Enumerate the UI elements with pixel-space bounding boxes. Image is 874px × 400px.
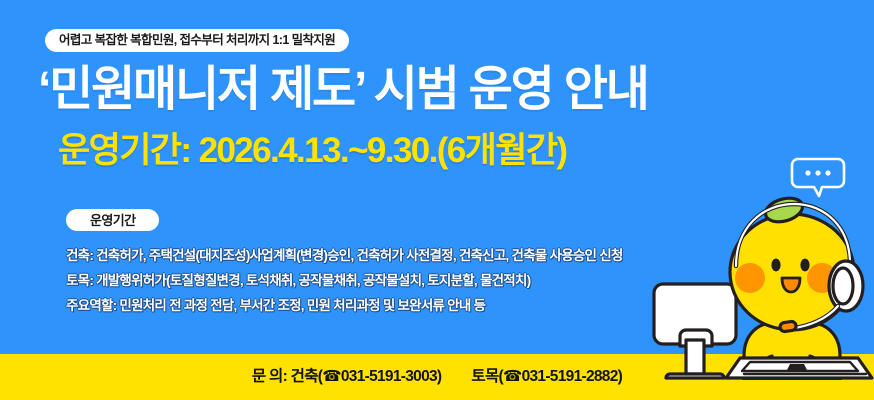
footer-contact-bar: 문 의: 건축(☎031-5191-3003) 토목(☎031-5191-288… — [0, 354, 874, 400]
detail-line-civil-engineering: 토목: 개발행위허가(토질형질변경, 토석채취, 공작물채취, 공작물설치, 토… — [66, 268, 686, 293]
contact-civil-engineering: 토목(☎031-5191-2882) — [471, 369, 622, 385]
eyebrow-text: 어렵고 복잡한 복합민원, 접수부터 처리까지 1:1 밀착지원 — [59, 34, 335, 47]
section-tag-label: 운영기간 — [90, 214, 135, 227]
operating-period-subtitle: 운영기간: 2026.4.13.~9.30.(6개월간) — [58, 131, 566, 171]
promo-banner: 어렵고 복잡한 복합민원, 접수부터 처리까지 1:1 밀착지원 ‘민원매니저 … — [0, 0, 874, 400]
detail-line-main-role: 주요역할: 민원처리 전 과정 전담, 부서간 조정, 민원 처리과정 및 보완… — [66, 293, 686, 318]
headline-title: ‘민원매니저 제도’ 시범 운영 안내 — [38, 62, 648, 117]
contact-building: 문 의: 건축(☎031-5191-3003) — [252, 369, 442, 385]
detail-list: 건축: 건축허가, 주택건설(대지조성)사업계획(변경)승인, 건축허가 사전결… — [66, 243, 686, 318]
microphone-icon — [780, 321, 797, 332]
eyebrow-pill: 어렵고 복잡한 복합민원, 접수부터 처리까지 1:1 밀착지원 — [45, 29, 349, 52]
speech-bubble-icon — [790, 156, 846, 200]
detail-line-building: 건축: 건축허가, 주택건설(대지조성)사업계획(변경)승인, 건축허가 사전결… — [66, 243, 686, 268]
section-tag-operating-period: 운영기간 — [66, 209, 159, 231]
